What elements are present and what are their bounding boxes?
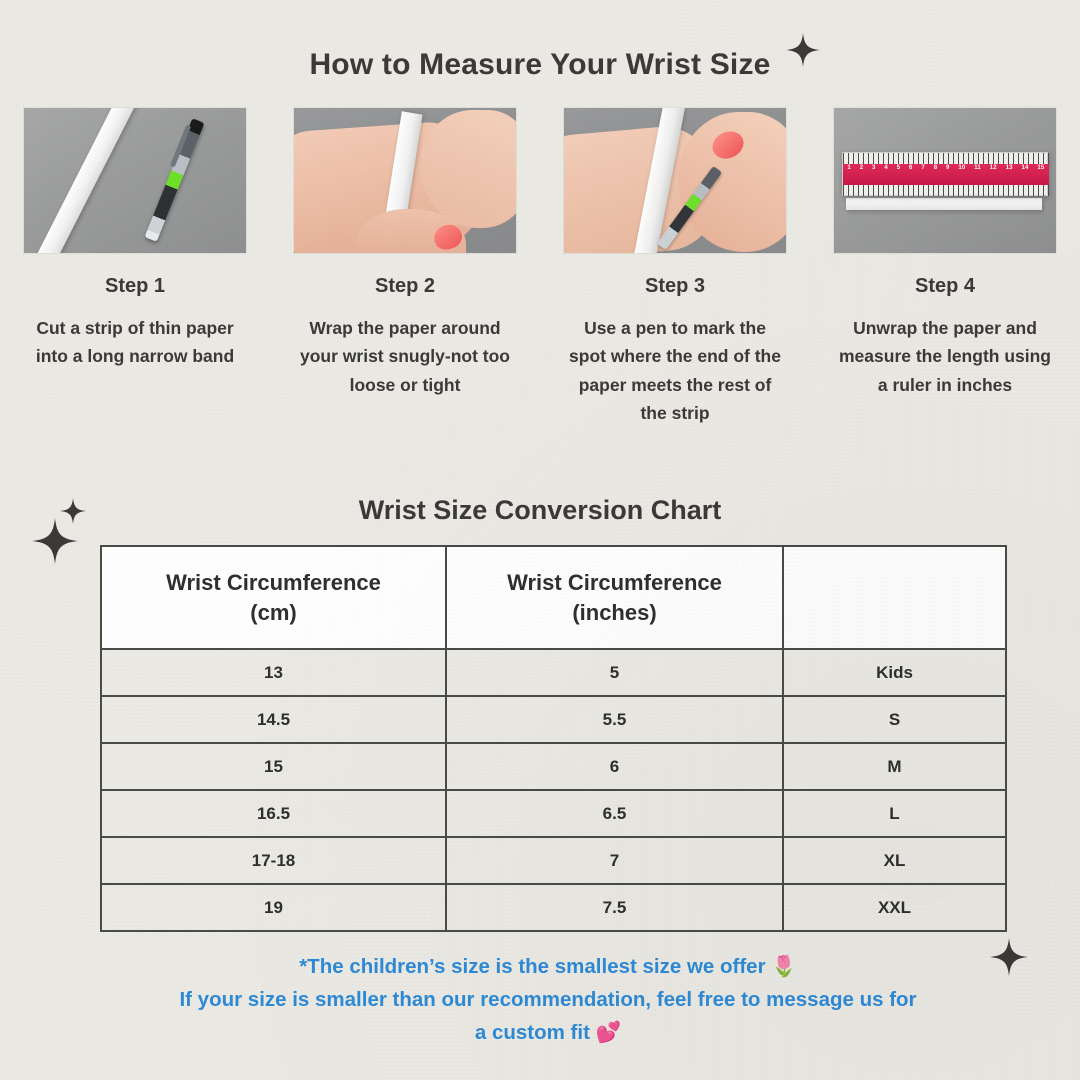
chart-title: Wrist Size Conversion Chart — [0, 495, 1080, 526]
step-2-description: Wrap the paper around your wrist snugly-… — [299, 314, 511, 399]
cell-inches: 7.5 — [446, 884, 783, 931]
table-body: 135Kids14.55.5S156M16.56.5L17-187XL197.5… — [101, 649, 1006, 931]
cell-cm: 17-18 — [101, 837, 446, 884]
cell-inches: 6.5 — [446, 790, 783, 837]
cell-inches: 5 — [446, 649, 783, 696]
table-header-row: Wrist Circumference (cm) Wrist Circumfer… — [101, 546, 1006, 649]
ruler-number: 5 — [897, 165, 901, 175]
column-header-inches-line1: Wrist Circumference — [507, 570, 722, 595]
table-row: 17-187XL — [101, 837, 1006, 884]
column-header-cm-line1: Wrist Circumference — [166, 570, 381, 595]
ruler-number: 1 — [847, 165, 851, 175]
table-row: 197.5XXL — [101, 884, 1006, 931]
step-1-description: Cut a strip of thin paper into a long na… — [29, 314, 241, 371]
sparkle-icon — [786, 33, 820, 67]
ruler-number: 4 — [884, 165, 888, 175]
ruler-numbers: 123456789101112131415 — [843, 165, 1049, 175]
cell-cm: 13 — [101, 649, 446, 696]
ruler-number: 12 — [990, 165, 997, 175]
column-header-cm-line2: (cm) — [250, 600, 296, 625]
column-header-cm: Wrist Circumference (cm) — [101, 546, 446, 649]
ruler-number: 11 — [974, 165, 981, 175]
cell-size: XXL — [783, 884, 1006, 931]
ruler-number: 9 — [946, 165, 950, 175]
ruler-ticks-top — [843, 153, 1049, 164]
cell-size: XL — [783, 837, 1006, 884]
column-header-inches: Wrist Circumference (inches) — [446, 546, 783, 649]
step-item-1: Step 1 Cut a strip of thin paper into a … — [0, 108, 270, 427]
step-1-label: Step 1 — [105, 275, 165, 298]
ruler-ticks-bottom — [843, 185, 1049, 196]
step-2-photo — [294, 108, 516, 253]
paper-strip-shape — [846, 198, 1042, 210]
footer-note: *The children’s size is the smallest siz… — [78, 950, 1018, 1050]
cell-size: Kids — [783, 649, 1006, 696]
step-item-3: Step 3 Use a pen to mark the spot where … — [540, 108, 810, 427]
table-row: 135Kids — [101, 649, 1006, 696]
ruler-shape: 123456789101112131415 — [842, 152, 1048, 196]
cell-cm: 14.5 — [101, 696, 446, 743]
step-3-photo — [564, 108, 786, 253]
ruler-number: 7 — [921, 165, 925, 175]
footer-line-2: If your size is smaller than our recomme… — [78, 983, 1018, 1016]
cell-inches: 6 — [446, 743, 783, 790]
ruler-number: 8 — [934, 165, 938, 175]
ruler-number: 3 — [872, 165, 876, 175]
ruler-number: 2 — [860, 165, 864, 175]
step-4-description: Unwrap the paper and measure the length … — [839, 314, 1051, 399]
cell-inches: 7 — [446, 837, 783, 884]
step-3-description: Use a pen to mark the spot where the end… — [569, 314, 781, 427]
cell-size: M — [783, 743, 1006, 790]
table-row: 16.56.5L — [101, 790, 1006, 837]
table-row: 156M — [101, 743, 1006, 790]
ruler-number: 15 — [1037, 165, 1044, 175]
ruler-number: 10 — [958, 165, 965, 175]
column-header-size — [783, 546, 1006, 649]
cell-inches: 5.5 — [446, 696, 783, 743]
page-title: How to Measure Your Wrist Size — [0, 48, 1080, 82]
steps-row: Step 1 Cut a strip of thin paper into a … — [0, 108, 1080, 427]
column-header-inches-line2: (inches) — [572, 600, 656, 625]
step-4-label: Step 4 — [915, 275, 975, 298]
footer-line-3: a custom fit 💕 — [78, 1016, 1018, 1049]
wrist-size-conversion-table: Wrist Circumference (cm) Wrist Circumfer… — [100, 545, 1007, 932]
table-row: 14.55.5S — [101, 696, 1006, 743]
cell-cm: 15 — [101, 743, 446, 790]
step-2-label: Step 2 — [375, 275, 435, 298]
ruler-number: 6 — [909, 165, 913, 175]
step-item-4: 123456789101112131415 Step 4 Unwrap the … — [810, 108, 1080, 427]
step-item-2: Step 2 Wrap the paper around your wrist … — [270, 108, 540, 427]
cell-size: L — [783, 790, 1006, 837]
cell-cm: 19 — [101, 884, 446, 931]
cell-cm: 16.5 — [101, 790, 446, 837]
step-3-label: Step 3 — [645, 275, 705, 298]
ruler-number: 13 — [1006, 165, 1013, 175]
step-4-photo: 123456789101112131415 — [834, 108, 1056, 253]
footer-line-1: *The children’s size is the smallest siz… — [78, 950, 1018, 983]
cell-size: S — [783, 696, 1006, 743]
step-1-photo — [24, 108, 246, 253]
sparkle-icon — [990, 938, 1028, 976]
sparkle-icon — [32, 518, 78, 564]
ruler-number: 14 — [1021, 165, 1028, 175]
